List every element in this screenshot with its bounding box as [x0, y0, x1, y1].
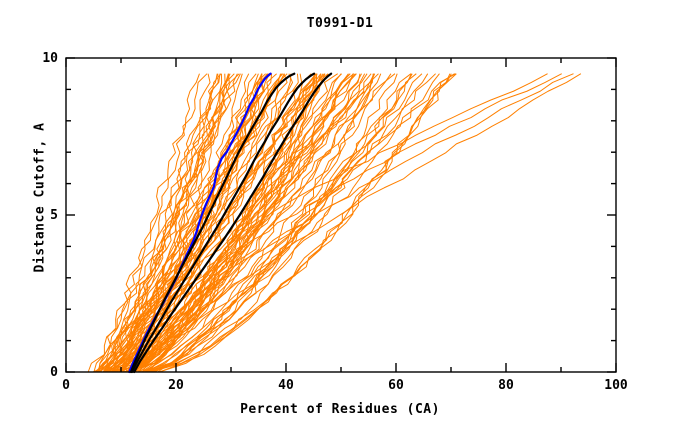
y-tick-label: 0	[28, 365, 58, 380]
x-tick-label: 80	[483, 378, 529, 393]
y-tick-label: 10	[28, 51, 58, 66]
y-tick-label: 5	[28, 208, 58, 223]
prediction-curve	[142, 74, 367, 372]
prediction-curve	[109, 74, 265, 372]
x-tick-label: 60	[373, 378, 419, 393]
x-tick-label: 20	[153, 378, 199, 393]
prediction-curve	[126, 74, 354, 372]
chart-container: T0991-D1 Distance Cutoff, A Percent of R…	[0, 0, 680, 440]
x-tick-label: 0	[43, 378, 89, 393]
x-tick-label: 100	[593, 378, 639, 393]
plot-area	[0, 0, 680, 440]
x-tick-label: 40	[263, 378, 309, 393]
